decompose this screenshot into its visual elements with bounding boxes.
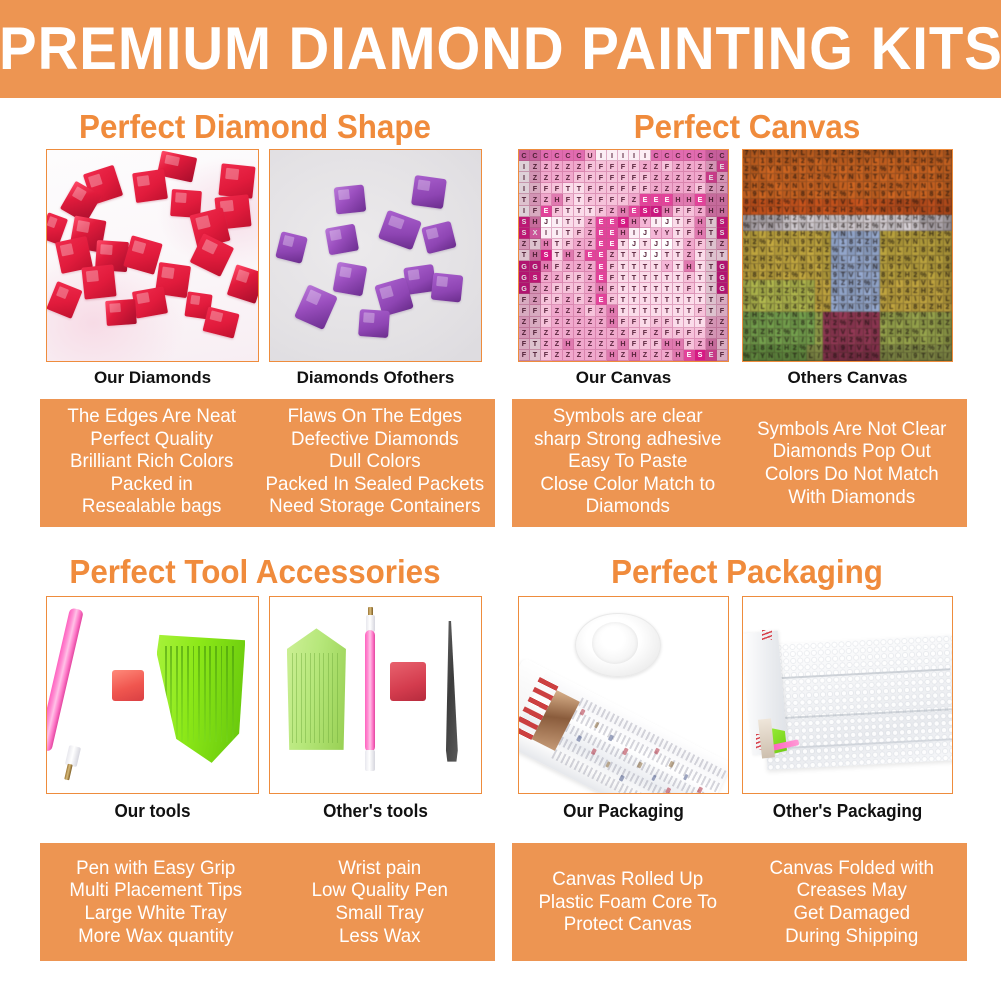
canvas-symbol-cell: E — [651, 194, 662, 205]
canvas-symbol-cell: Y — [662, 261, 673, 272]
canvas-symbol-cell: C — [673, 150, 684, 161]
canvas-symbol-cell: T — [530, 350, 541, 361]
panel-line: Pen with Easy Grip — [76, 857, 235, 880]
canvas-symbol-cell: T — [629, 261, 640, 272]
canvas-symbol-cell: F — [596, 172, 607, 183]
canvas-symbol-cell: Z — [574, 161, 585, 172]
tray-rib — [176, 646, 178, 742]
canvas-symbol-cell: E — [695, 194, 706, 205]
canvas-symbol-cell: F — [695, 328, 706, 339]
panel-column-ours: Symbols are clearsharp Strong adhesiveEa… — [520, 405, 735, 521]
canvas-symbol-cell: T — [717, 250, 728, 261]
tray-rib — [323, 653, 324, 743]
canvas-symbol-cell: F — [629, 172, 640, 183]
diamond-piece — [294, 284, 337, 330]
canvas-symbol-cell: Z — [519, 328, 530, 339]
canvas-symbol-cell: Z — [629, 194, 640, 205]
canvas-symbol-cell: F — [717, 350, 728, 361]
canvas-symbol-cell: F — [618, 172, 629, 183]
canvas-symbol-cell: Z — [651, 172, 662, 183]
canvas-symbol-cell: Z — [563, 328, 574, 339]
canvas-symbol-cell: Z — [552, 317, 563, 328]
canvas-symbol-cell: Z — [552, 350, 563, 361]
panel-line: Packed In Sealed Packets — [266, 473, 485, 496]
panel-line: sharp Strong adhesive — [534, 428, 721, 451]
canvas-symbol-cell: J — [651, 250, 662, 261]
canvas-symbol-cell: H — [552, 194, 563, 205]
canvas-symbol-cell: Z — [695, 339, 706, 350]
canvas-symbol-cell: I — [541, 228, 552, 239]
canvas-symbol-cell: F — [695, 239, 706, 250]
canvas-symbol-cell: T — [673, 305, 684, 316]
canvas-symbol-cell: J — [651, 239, 662, 250]
canvas-symbol-cell: H — [706, 194, 717, 205]
canvas-symbol-cell: T — [618, 283, 629, 294]
canvas-symbol-cell: Z — [585, 350, 596, 361]
others-tools-art — [270, 597, 481, 793]
image-our-packaging — [518, 596, 729, 794]
canvas-symbol-cell: T — [530, 239, 541, 250]
canvas-symbol-cell: F — [585, 305, 596, 316]
panel-line: Small Tray — [335, 902, 423, 925]
canvas-symbol-cell: T — [695, 294, 706, 305]
tray-rib — [198, 646, 200, 742]
canvas-symbol-cell: Z — [541, 283, 552, 294]
canvas-symbol-cell: T — [618, 294, 629, 305]
canvas-symbol-cell: Z — [585, 283, 596, 294]
panel-line: Get Damaged — [793, 902, 910, 925]
canvas-symbol-cell: Z — [541, 172, 552, 183]
canvas-symbol-cell: Z — [552, 339, 563, 350]
canvas-symbol-cell: T — [563, 228, 574, 239]
canvas-symbol-cell: T — [706, 228, 717, 239]
panel-line: Canvas Folded with — [769, 857, 933, 880]
canvas-symbol-cell: F — [552, 261, 563, 272]
pen-needle — [64, 763, 72, 779]
canvas-symbol-cell: Z — [706, 317, 717, 328]
canvas-symbol-cell: F — [607, 272, 618, 283]
canvas-symbol-cell: F — [585, 194, 596, 205]
canvas-symbol-cell: H — [563, 250, 574, 261]
canvas-symbol-cell: Z — [695, 161, 706, 172]
panel-line: Defective Diamonds — [291, 428, 459, 451]
wax-square — [390, 662, 426, 701]
canvas-symbol-cell: H — [530, 250, 541, 261]
canvas-symbol-cell: H — [662, 339, 673, 350]
image-others-packaging — [742, 596, 953, 794]
canvas-symbol-cell: T — [574, 183, 585, 194]
diamond-piece — [123, 235, 162, 274]
tray-rib — [337, 653, 338, 743]
diamond-piece — [203, 307, 240, 339]
canvas-symbol-cell: Y — [651, 228, 662, 239]
canvas-symbol-cell: T — [651, 305, 662, 316]
canvas-symbol-cell: Z — [596, 305, 607, 316]
canvas-symbol-cell: J — [629, 239, 640, 250]
canvas-symbol-cell: H — [695, 217, 706, 228]
canvas-symbol-cell: T — [684, 317, 695, 328]
mailer-body — [761, 635, 952, 770]
canvas-symbol-cell: E — [662, 194, 673, 205]
canvas-symbol-cell: F — [607, 172, 618, 183]
page-title: PREMIUM DIAMOND PAINTING KITS — [0, 19, 1001, 79]
canvas-symbol-cell: F — [607, 183, 618, 194]
canvas-symbol-cell: H — [618, 228, 629, 239]
canvas-symbol-cell: C — [651, 150, 662, 161]
canvas-symbol-cell: C — [519, 150, 530, 161]
diamond-piece — [333, 262, 367, 296]
canvas-symbol-cell: Z — [585, 339, 596, 350]
canvas-symbol-cell: Z — [673, 183, 684, 194]
diamond-piece — [431, 273, 463, 303]
tray-rib — [226, 646, 228, 742]
panel-diamond-shape: The Edges Are NeatPerfect QualityBrillia… — [40, 399, 495, 527]
canvas-symbol-cell: E — [684, 350, 695, 361]
diamond-piece — [81, 264, 116, 299]
canvas-symbol-cell: H — [563, 339, 574, 350]
canvas-symbol-cell: F — [552, 183, 563, 194]
panel-tool-accessories: Pen with Easy GripMulti Placement TipsLa… — [40, 843, 495, 961]
canvas-symbol-cell: T — [640, 239, 651, 250]
canvas-symbol-cell: U — [585, 150, 596, 161]
panel-column-others: Wrist painLow Quality PenSmall TrayLess … — [272, 849, 487, 955]
canvas-symbol-cell: Z — [717, 328, 728, 339]
canvas-symbol-cell: Z — [574, 339, 585, 350]
canvas-symbol-cell: I — [618, 150, 629, 161]
canvas-symbol-cell: H — [684, 261, 695, 272]
diamond-piece — [226, 264, 258, 303]
tray-rib — [193, 646, 195, 742]
our-tools-art — [47, 597, 258, 793]
canvas-symbol-cell: T — [618, 261, 629, 272]
canvas-symbol-cell: Z — [717, 172, 728, 183]
canvas-symbol-cell: F — [695, 183, 706, 194]
canvas-symbol-cell: Z — [552, 305, 563, 316]
canvas-symbol-cell: X — [530, 228, 541, 239]
canvas-symbol-cell: J — [662, 239, 673, 250]
wax-square — [112, 670, 144, 701]
diamond-piece — [334, 184, 366, 214]
canvas-symbol-cell: G — [519, 283, 530, 294]
tray-rib — [215, 646, 217, 742]
canvas-symbol-cell: T — [640, 317, 651, 328]
canvas-symbol-cell: Z — [596, 350, 607, 361]
canvas-symbol-cell: E — [596, 228, 607, 239]
canvas-symbol-cell: F — [530, 305, 541, 316]
panel-line: Symbols Are Not Clear — [757, 418, 946, 441]
canvas-symbol-cell: E — [585, 250, 596, 261]
tray-rib — [292, 653, 293, 743]
canvas-symbol-cell: T — [662, 250, 673, 261]
canvas-symbol-cell: H — [530, 217, 541, 228]
canvas-symbol-cell: H — [607, 350, 618, 361]
canvas-symbol-cell: Y — [640, 217, 651, 228]
canvas-symbol-cell: F — [607, 294, 618, 305]
panel-line: Need Storage Containers — [270, 495, 481, 518]
canvas-symbol-cell: F — [684, 283, 695, 294]
tray-rib — [319, 653, 320, 743]
canvas-symbol-cell: Z — [574, 250, 585, 261]
canvas-symbol-cell: T — [695, 272, 706, 283]
canvas-symbol-cell: Z — [684, 183, 695, 194]
caption-others-diamonds: Diamonds Ofothers — [269, 369, 482, 386]
canvas-symbol-cell: Z — [651, 161, 662, 172]
canvas-symbol-cell: F — [574, 283, 585, 294]
canvas-symbol-cell: F — [695, 305, 706, 316]
canvas-symbol-cell: T — [706, 294, 717, 305]
caption-our-diamonds: Our Diamonds — [46, 369, 259, 386]
canvas-symbol-cell: F — [607, 161, 618, 172]
canvas-symbol-cell: J — [541, 217, 552, 228]
canvas-symbol-cell: F — [596, 194, 607, 205]
canvas-symbol-cell: S — [519, 228, 530, 239]
canvas-symbol-cell: F — [684, 339, 695, 350]
canvas-symbol-cell: Z — [541, 328, 552, 339]
canvas-symbol-cell: E — [596, 217, 607, 228]
canvas-symbol-cell: F — [662, 328, 673, 339]
canvas-symbol-cell: Z — [684, 239, 695, 250]
canvas-symbol-cell: T — [563, 183, 574, 194]
canvas-symbol-cell: Z — [607, 328, 618, 339]
canvas-symbol-cell: T — [651, 261, 662, 272]
tray-rib — [305, 653, 306, 743]
canvas-symbol-cell: Z — [651, 350, 662, 361]
canvas-symbol-cell: F — [530, 206, 541, 217]
canvas-symbol-cell: T — [585, 206, 596, 217]
canvas-symbol-cell: F — [552, 294, 563, 305]
tray-rib — [328, 653, 329, 743]
canvas-symbol-cell: H — [673, 350, 684, 361]
canvas-symbol-cell: E — [607, 217, 618, 228]
canvas-symbol-cell: T — [695, 250, 706, 261]
canvas-symbol-cell: H — [717, 194, 728, 205]
canvas-symbol-cell: F — [640, 339, 651, 350]
canvas-symbol-cell: T — [618, 239, 629, 250]
canvas-symbol-cell: C — [706, 150, 717, 161]
canvas-symbol-cell: I — [629, 150, 640, 161]
canvas-symbol-cell: H — [695, 228, 706, 239]
canvas-symbol-cell: F — [541, 350, 552, 361]
panel-line: Dull Colors — [329, 450, 421, 473]
canvas-symbol-cell: Z — [574, 261, 585, 272]
canvas-symbol-cell: C — [552, 150, 563, 161]
canvas-symbol-cell: C — [574, 150, 585, 161]
canvas-symbol-cell: Z — [530, 161, 541, 172]
canvas-symbol-cell: E — [596, 272, 607, 283]
canvas-symbol-cell: T — [552, 239, 563, 250]
canvas-symbol-cell: F — [574, 294, 585, 305]
canvas-symbol-cell: F — [563, 272, 574, 283]
pen-body — [47, 607, 84, 751]
canvas-symbol-cell: T — [651, 272, 662, 283]
canvas-symbol-cell: H — [629, 217, 640, 228]
canvas-symbol-cell: Z — [563, 261, 574, 272]
canvas-symbol-cell: Z — [574, 239, 585, 250]
canvas-symbol-cell: F — [717, 294, 728, 305]
canvas-symbol-cell: Z — [662, 350, 673, 361]
canvas-symbol-cell: T — [662, 294, 673, 305]
canvas-symbol-cell: I — [629, 228, 640, 239]
canvas-symbol-cell: T — [662, 283, 673, 294]
panel-column-others: Canvas Folded withCreases MayGet Damaged… — [744, 849, 959, 955]
tray-rib — [296, 653, 297, 743]
image-our-diamonds — [46, 149, 259, 362]
canvas-symbol-cell: E — [596, 239, 607, 250]
canvas-symbol-cell: F — [640, 172, 651, 183]
canvas-symbol-cell: T — [530, 339, 541, 350]
canvas-symbol-cell: F — [552, 206, 563, 217]
canvas-symbol-cell: T — [706, 261, 717, 272]
canvas-symbol-cell: Z — [519, 317, 530, 328]
pen-body — [365, 630, 375, 752]
canvas-symbol-cell: T — [651, 294, 662, 305]
canvas-symbol-cell: Z — [706, 183, 717, 194]
panel-column-ours: Canvas Rolled UpPlastic Foam Core ToProt… — [520, 849, 735, 955]
canvas-symbol-cell: T — [574, 206, 585, 217]
canvas-symbol-cell: F — [651, 317, 662, 328]
canvas-symbol-cell: C — [530, 150, 541, 161]
canvas-symbol-cell: T — [519, 194, 530, 205]
canvas-symbol-cell: F — [673, 206, 684, 217]
canvas-symbol-cell: F — [629, 339, 640, 350]
canvas-symbol-cell: Z — [541, 194, 552, 205]
image-others-tools — [269, 596, 482, 794]
canvas-symbol-cell: F — [563, 194, 574, 205]
canvas-symbol-cell: F — [574, 228, 585, 239]
canvas-symbol-cell: F — [596, 206, 607, 217]
panel-line: The Edges Are Neat — [67, 405, 236, 428]
canvas-blur-overlay — [743, 150, 952, 361]
diamond-piece — [358, 309, 389, 338]
canvas-symbol-cell: H — [684, 194, 695, 205]
canvas-symbol-cell: H — [673, 194, 684, 205]
canvas-symbol-cell: I — [519, 161, 530, 172]
tear-strip — [762, 630, 772, 640]
canvas-symbol-cell: Z — [717, 183, 728, 194]
canvas-symbol-cell: Z — [574, 305, 585, 316]
panel-line: Diamonds Pop Out — [772, 440, 930, 463]
canvas-symbol-cell: F — [585, 183, 596, 194]
canvas-symbol-cell: H — [618, 206, 629, 217]
canvas-symbol-cell: E — [706, 350, 717, 361]
canvas-symbol-cell: T — [695, 283, 706, 294]
canvas-symbol-cell: Z — [607, 250, 618, 261]
diamond-piece — [218, 163, 255, 198]
section-heading-canvas: Perfect Canvas — [524, 110, 971, 143]
panel-line: Multi Placement Tips — [69, 879, 242, 902]
canvas-symbol-cell: T — [662, 272, 673, 283]
canvas-symbol-cell: J — [640, 228, 651, 239]
image-our-tools — [46, 596, 259, 794]
panel-line: Creases May — [796, 879, 906, 902]
canvas-symbol-cell: I — [519, 172, 530, 183]
canvas-symbol-cell: Z — [541, 161, 552, 172]
purple-diamonds-art — [270, 150, 481, 361]
panel-line: Close Color Match to — [540, 473, 715, 496]
canvas-symbol-cell: Z — [585, 294, 596, 305]
tray-rib — [314, 653, 315, 743]
others-packaging-mailer-art — [743, 597, 952, 793]
canvas-symbol-cell: E — [596, 261, 607, 272]
panel-line: Perfect Quality — [90, 428, 213, 451]
canvas-symbol-cell: Z — [618, 350, 629, 361]
canvas-symbol-cell: F — [530, 183, 541, 194]
canvas-symbol-cell: H — [541, 261, 552, 272]
canvas-symbol-cell: G — [717, 261, 728, 272]
canvas-symbol-cell: F — [541, 317, 552, 328]
canvas-symbol-cell: G — [519, 261, 530, 272]
canvas-symbol-cell: Z — [662, 172, 673, 183]
canvas-symbol-cell: Z — [585, 272, 596, 283]
tray-rib — [165, 646, 167, 742]
canvas-symbol-cell: T — [640, 283, 651, 294]
canvas-symbol-cell: F — [541, 294, 552, 305]
canvas-symbol-cell: T — [519, 250, 530, 261]
canvas-symbol-cell: F — [662, 161, 673, 172]
canvas-symbol-cell: Z — [541, 272, 552, 283]
canvas-symbol-cell: Z — [574, 317, 585, 328]
canvas-symbol-cell: J — [640, 250, 651, 261]
canvas-symbol-cell: I — [552, 217, 563, 228]
canvas-symbol-cell: Z — [585, 317, 596, 328]
canvas-symbol-cell: Z — [695, 172, 706, 183]
canvas-symbol-cell: Z — [563, 350, 574, 361]
canvas-symbol-cell: S — [717, 228, 728, 239]
panel-line: During Shipping — [785, 925, 918, 948]
canvas-symbol-cell: G — [519, 272, 530, 283]
canvas-symbol-cell: T — [706, 283, 717, 294]
canvas-symbol-cell: T — [673, 272, 684, 283]
red-diamonds-art — [47, 150, 258, 361]
canvas-symbol-cell: I — [519, 183, 530, 194]
bubble-texture — [761, 635, 952, 770]
caption-our-canvas: Our Canvas — [518, 369, 729, 386]
canvas-symbol-cell: H — [673, 339, 684, 350]
panel-column-others: Flaws On The EdgesDefective DiamondsDull… — [264, 405, 486, 521]
panel-line: Wrist pain — [338, 857, 421, 880]
canvas-symbol-cell: T — [629, 294, 640, 305]
panel-canvas: Symbols are clearsharp Strong adhesiveEa… — [512, 399, 967, 527]
diamond-piece — [421, 221, 456, 255]
canvas-symbol-cell: T — [684, 305, 695, 316]
diamond-piece — [276, 231, 309, 264]
canvas-symbol-cell: F — [563, 283, 574, 294]
canvas-symbol-cell: T — [706, 217, 717, 228]
canvas-symbol-cell: T — [695, 317, 706, 328]
canvas-symbol-cell: F — [519, 339, 530, 350]
canvas-symbol-cell: S — [541, 250, 552, 261]
canvas-symbol-cell: C — [717, 150, 728, 161]
tray-rib — [204, 646, 206, 742]
canvas-symbol-cell: T — [651, 283, 662, 294]
canvas-symbol-cell: T — [574, 217, 585, 228]
canvas-symbol-cell: I — [607, 150, 618, 161]
canvas-symbol-cell: E — [596, 294, 607, 305]
canvas-symbol-cell: Z — [530, 194, 541, 205]
canvas-symbol-cell: F — [684, 328, 695, 339]
canvas-symbol-cell: F — [585, 172, 596, 183]
canvas-symbol-cell: Z — [684, 172, 695, 183]
section-heading-diamond-shape: Perfect Diamond Shape — [32, 110, 479, 143]
diamond-piece — [325, 224, 359, 256]
canvas-symbol-cell: T — [673, 217, 684, 228]
canvas-symbol-cell: F — [541, 183, 552, 194]
canvas-symbol-cell: F — [607, 283, 618, 294]
canvas-symbol-cell: E — [717, 161, 728, 172]
canvas-symbol-cell: T — [673, 317, 684, 328]
canvas-symbol-cell: C — [662, 150, 673, 161]
canvas-symbol-cell: Z — [717, 317, 728, 328]
